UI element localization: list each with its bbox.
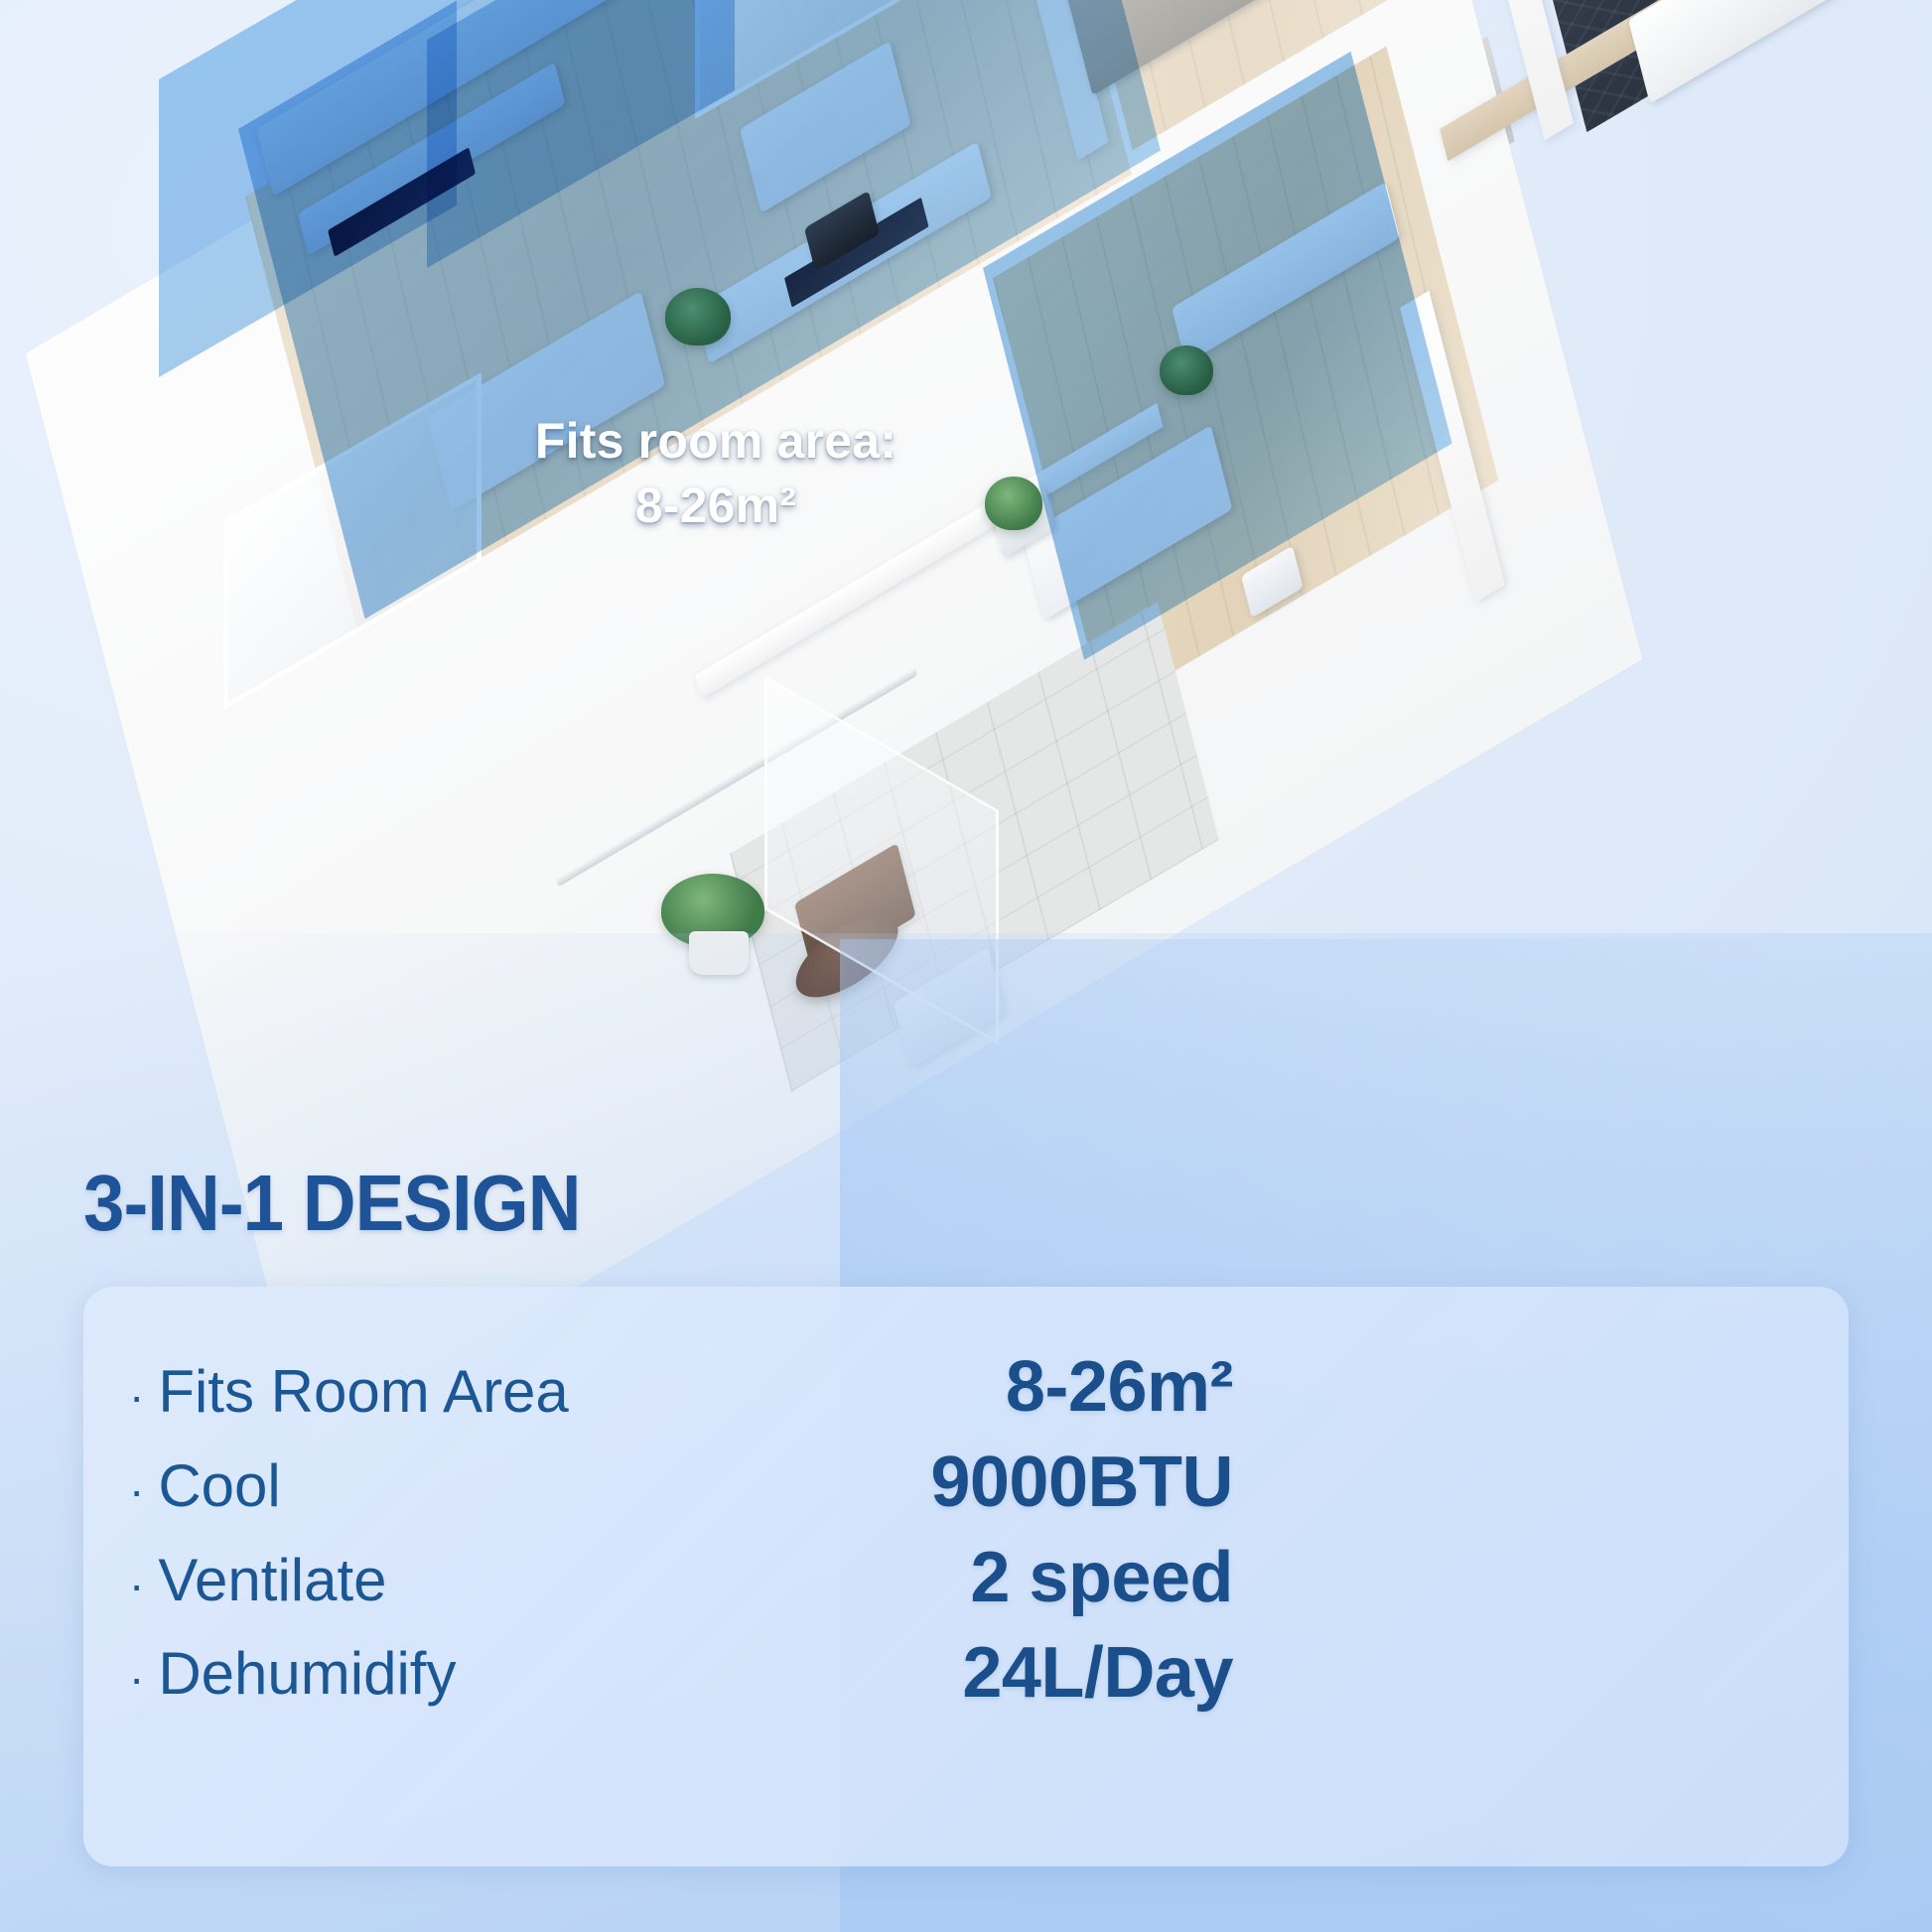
spec-value: 24L/Day <box>930 1632 1233 1714</box>
list-item: · Fits Room Area <box>129 1360 983 1425</box>
feature-label: Dehumidify <box>158 1642 456 1707</box>
feature-list: · Fits Room Area · Cool · Ventilate · De… <box>129 1360 983 1707</box>
plant-dining <box>985 477 1042 530</box>
coverage-caption: Fits room area: 8-26m² <box>483 409 949 538</box>
coverage-caption-line2: 8-26m² <box>483 474 949 538</box>
list-item: · Cool <box>129 1454 983 1519</box>
list-item: · Ventilate <box>129 1549 983 1613</box>
feature-label: Ventilate <box>158 1549 386 1613</box>
bullet-icon: · <box>129 1373 144 1419</box>
coverage-caption-line1: Fits room area: <box>483 409 949 474</box>
feature-label: Cool <box>158 1454 280 1519</box>
feature-label: Fits Room Area <box>158 1360 568 1425</box>
page-title: 3-IN-1 DESIGN <box>83 1158 581 1249</box>
spec-value-list: 8-26m² 9000BTU 2 speed 24L/Day <box>930 1346 1233 1714</box>
bullet-icon: · <box>129 1467 144 1513</box>
product-feature-graphic: Fits room area: 8-26m² 3-IN-1 DESIGN · F… <box>0 0 1932 1932</box>
bathtub <box>1628 0 1847 104</box>
bullet-icon: · <box>129 1562 144 1607</box>
spec-value: 8-26m² <box>930 1346 1233 1428</box>
list-item: · Dehumidify <box>129 1642 983 1707</box>
bullet-icon: · <box>129 1655 144 1701</box>
spec-value: 2 speed <box>930 1537 1233 1618</box>
spec-value: 9000BTU <box>930 1442 1233 1523</box>
spec-card: · Fits Room Area · Cool · Ventilate · De… <box>83 1287 1849 1866</box>
